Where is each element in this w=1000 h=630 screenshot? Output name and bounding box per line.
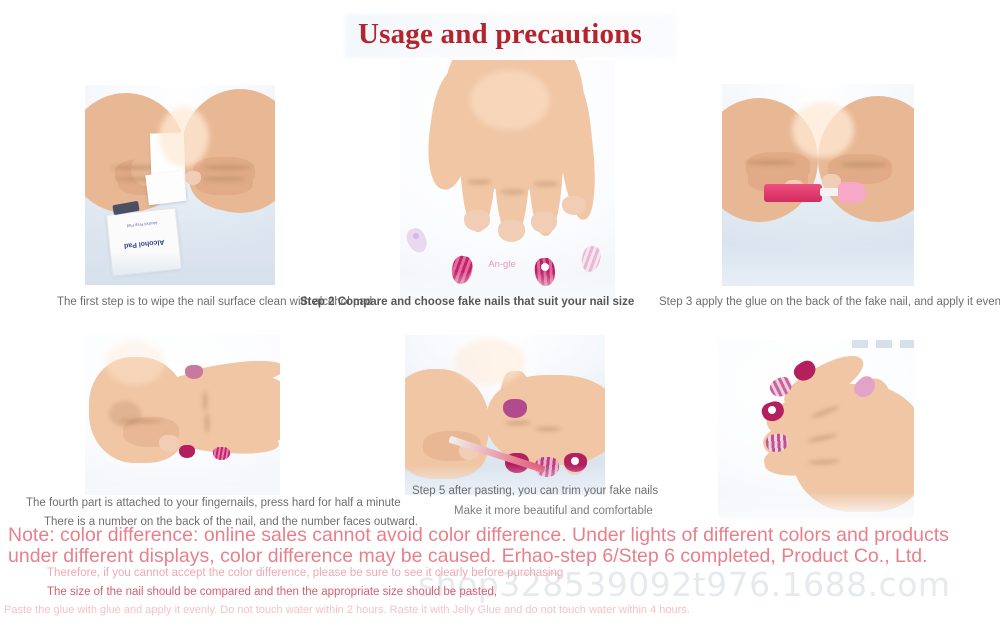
step-2-caption: Step 2 Compare and choose fake nails tha… (300, 296, 634, 308)
step-4-photo (85, 335, 280, 495)
step-5-caption-2: Make it more beautiful and comfortable (454, 505, 653, 517)
nail-glue-bottle (764, 184, 822, 202)
step-6-photo (718, 340, 914, 518)
packet-label: Alcohol Pad (110, 236, 178, 250)
note-line-3: Therefore, if you cannot accept the colo… (47, 567, 563, 579)
step-2-photo: An-gle (400, 60, 615, 300)
step-5-caption: Step 5 after pasting, you can trim your … (412, 485, 658, 497)
note-line-4: The size of the nail should be compared … (47, 586, 497, 598)
step-3-caption: Step 3 apply the glue on the back of the… (659, 296, 1000, 308)
step-4-caption: The fourth part is attached to your fing… (26, 497, 401, 509)
packet-subtitle: Alcohol Prep Pad (108, 219, 176, 231)
color-difference-note-line-1: Note: color difference: online sales can… (8, 524, 949, 546)
usage-and-precautions-page: Usage and precautions (0, 0, 1000, 630)
angle-label: An-gle (482, 260, 522, 270)
page-title: Usage and precautions (0, 18, 1000, 51)
step-3-photo (722, 84, 914, 286)
step-1-photo: Alcohol Prep Pad Alcohol Pad (85, 85, 275, 285)
color-difference-note-line-2: under different displays, color differen… (8, 545, 928, 567)
note-line-5: Paste the glue with glue and apply it ev… (4, 604, 690, 616)
step-5-photo (405, 335, 605, 495)
